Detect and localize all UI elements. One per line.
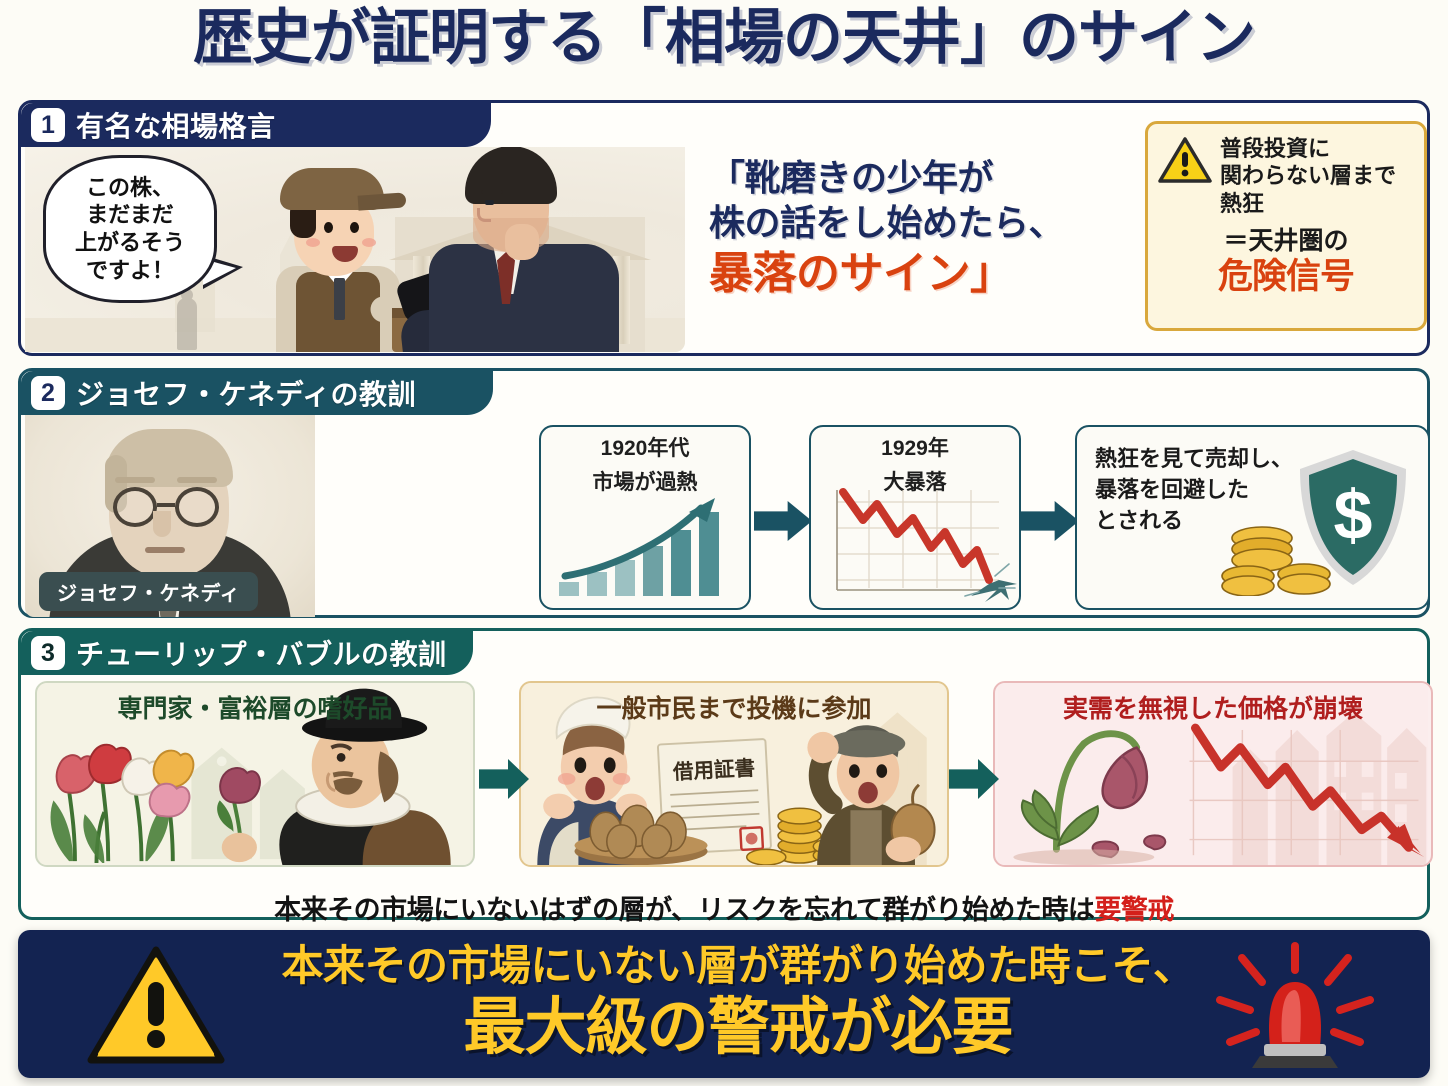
boy-eye xyxy=(350,222,359,233)
card-b-top-label: 1929年 xyxy=(811,427,1019,461)
section1-title: 有名な相場格言 xyxy=(76,105,276,145)
flow-arrow-2 xyxy=(1021,501,1079,541)
portrait-eyeglasses-icon xyxy=(175,487,219,527)
boy-flat-cap-icon xyxy=(280,168,384,210)
quote-line-2: 株の話をし始めたら、 xyxy=(709,200,1139,245)
panel-public-speculation: 一般市民まで投機に参加 xyxy=(519,681,949,867)
portrait-eyebrow xyxy=(115,477,155,483)
boy-tie xyxy=(334,278,345,320)
banner-text-block: 本来その市場にいない層が群がり始めた時こそ、 最大級の警戒が必要 xyxy=(233,940,1243,1064)
businessman-figure xyxy=(389,152,685,352)
background-pedestrian-icon xyxy=(177,298,197,350)
section1-header: 1 有名な相場格言 xyxy=(21,103,491,147)
crashing-line-chart-icon xyxy=(819,484,1017,602)
banner-line-1: 本来その市場にいない層が群がり始めた時こそ、 xyxy=(233,940,1243,991)
man-hair xyxy=(465,147,557,204)
card-kennedy-avoided-crash: 熱狂を見て売却し、 暴落を回避した とされる $ xyxy=(1075,425,1430,610)
rising-trend-arrow-icon xyxy=(561,492,733,584)
man-suit xyxy=(429,244,619,352)
portrait-mouth xyxy=(145,547,185,553)
portrait-eyeglasses-icon xyxy=(113,487,157,527)
panel-b-title: 一般市民まで投機に参加 xyxy=(521,689,947,725)
bar xyxy=(559,582,579,596)
man-nose xyxy=(477,208,491,222)
portrait-eyebrow xyxy=(177,477,217,483)
flow-arrow-1 xyxy=(754,501,812,541)
banner-line-2: 最大級の警戒が必要 xyxy=(233,991,1243,1064)
man-eye xyxy=(485,200,494,205)
alarm-siren-icon xyxy=(1210,942,1380,1068)
section2-title: ジョセフ・ケネディの教訓 xyxy=(76,373,416,413)
shoeshine-boy-illustration: この株、 まだまだ 上がるそう ですよ！ xyxy=(25,147,685,352)
warning-triangle-icon xyxy=(1158,136,1212,184)
boy-cheek xyxy=(306,238,320,247)
portrait-nose xyxy=(153,511,171,537)
gold-coins-icon xyxy=(1220,516,1332,596)
section3-caption: 本来その市場にいないはずの層が、リスクを忘れて群がり始めた時は要警戒 xyxy=(0,888,1448,927)
panel-a-title: 専門家・富裕層の嗜好品 xyxy=(37,689,473,725)
market-proverb-quote: 「靴磨きの少年が 株の話をし始めたら、 暴落のサイン」 xyxy=(709,155,1139,301)
section3-header: 3 チューリップ・バブルの教訓 xyxy=(21,631,473,675)
section-joseph-kennedy-lesson: 2 ジョセフ・ケネディの教訓 ジョセフ・ケネディ 1920年代 市場が過熱 xyxy=(18,368,1430,618)
quote-line-1: 「靴磨きの少年が xyxy=(709,155,1139,200)
svg-text:$: $ xyxy=(1334,476,1373,554)
infographic-page: 歴史が証明する「相場の天井」のサイン 1 有名な相場格言 この株、 まだまだ 上… xyxy=(0,0,1448,1086)
section2-number-badge: 2 xyxy=(31,376,65,410)
iou-document-label: 借用証書 xyxy=(671,756,755,784)
section-tulip-bubble-lesson: 3 チューリップ・バブルの教訓 専門家・富裕層の嗜好品 xyxy=(18,628,1430,920)
card-1920s-overheated-market: 1920年代 市場が過熱 xyxy=(539,425,751,610)
rising-bar-chart-icon xyxy=(557,500,737,596)
caption-red-text: 要警戒 xyxy=(1094,895,1174,925)
panel-price-collapse: 実需を無視した価格が崩壊 xyxy=(993,681,1433,867)
panel-c-title: 実需を無視した価格が崩壊 xyxy=(995,689,1431,725)
caption-main-text: 本来その市場にいないはずの層が、リスクを忘れて群がり始めた時は xyxy=(274,895,1094,925)
panel-luxury-for-experts: 専門家・富裕層の嗜好品 xyxy=(35,681,475,867)
section3-title: チューリップ・バブルの教訓 xyxy=(76,633,447,673)
portrait-name-label: ジョセフ・ケネディ xyxy=(39,572,258,611)
warning-box-text: 普段投資に 関わらない層まで 熱狂 xyxy=(1220,134,1396,217)
quote-accent-line: 暴落のサイン」 xyxy=(709,246,1139,301)
card-a-main-label: 市場が過熱 xyxy=(541,461,749,495)
card-a-top-label: 1920年代 xyxy=(541,427,749,461)
section-famous-market-proverb: 1 有名な相場格言 この株、 まだまだ 上がるそう ですよ！ xyxy=(18,100,1430,356)
card-1929-great-crash: 1929年 大暴落 xyxy=(809,425,1021,610)
joseph-kennedy-portrait: ジョセフ・ケネディ xyxy=(25,415,315,617)
bottom-warning-banner: 本来その市場にいない層が群がり始めた時こそ、 最大級の警戒が必要 xyxy=(18,930,1430,1078)
boy-eye xyxy=(324,222,333,233)
danger-signal-emphasis: 危険信号 xyxy=(1158,258,1414,296)
man-eyebrow xyxy=(481,190,503,194)
man-hand-on-chin xyxy=(505,224,539,260)
section1-number-badge: 1 xyxy=(31,108,65,142)
warning-triangle-icon xyxy=(86,944,226,1066)
danger-signal-box: 普段投資に 関わらない層まで 熱狂 ＝天井圏の 危険信号 xyxy=(1145,121,1427,331)
flow-arrow-4 xyxy=(949,759,999,799)
portrait-glasses-bridge xyxy=(157,503,175,507)
page-title: 歴史が証明する「相場の天井」のサイン xyxy=(0,4,1448,71)
speech-bubble-text: この株、 まだまだ 上がるそう ですよ！ xyxy=(75,174,185,285)
warning-equals-line: ＝天井圏の xyxy=(1158,221,1414,257)
section3-number-badge: 3 xyxy=(31,636,65,670)
section2-header: 2 ジョセフ・ケネディの教訓 xyxy=(21,371,493,415)
speech-bubble: この株、 まだまだ 上がるそう ですよ！ xyxy=(43,155,217,303)
boy-cheek xyxy=(362,238,376,247)
